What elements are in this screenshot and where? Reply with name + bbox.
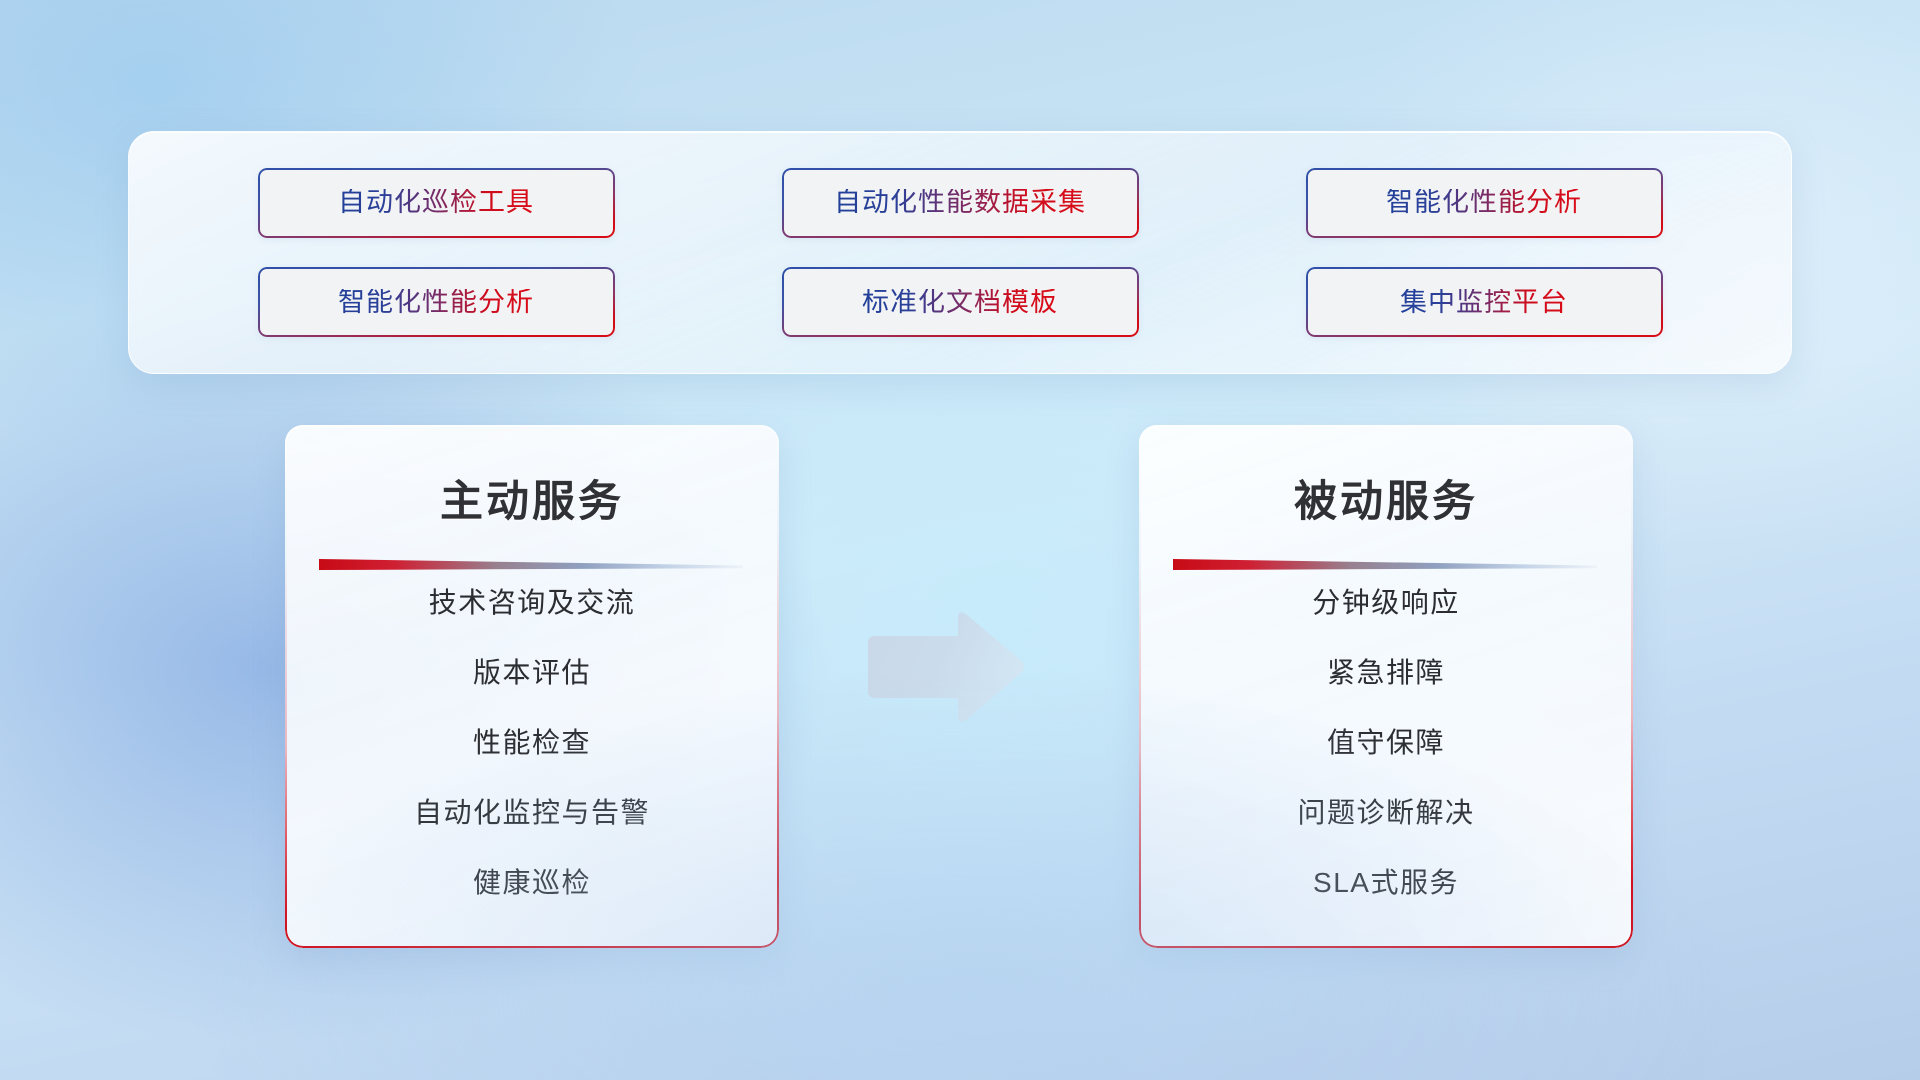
card-divider bbox=[319, 559, 743, 570]
capability-tag[interactable]: 自动化性能数据采集 bbox=[782, 168, 1139, 238]
service-list-item: 问题诊断解决 bbox=[1169, 791, 1603, 831]
service-list-item: 自动化监控与告警 bbox=[315, 791, 749, 831]
slide-canvas: 自动化巡检工具 自动化性能数据采集 智能化性能分析 智能化性能分析 标准化文档模… bbox=[0, 0, 1920, 1080]
capability-tag-label: 集中监控平台 bbox=[1400, 289, 1568, 316]
service-list-item: 健康巡检 bbox=[315, 861, 749, 901]
service-list-item: 分钟级响应 bbox=[1169, 581, 1603, 621]
service-list-item: 紧急排障 bbox=[1169, 651, 1603, 691]
service-list-item: 值守保障 bbox=[1169, 721, 1603, 761]
capability-tag[interactable]: 智能化性能分析 bbox=[1306, 168, 1663, 238]
capability-tag-label: 标准化文档模板 bbox=[862, 289, 1058, 316]
arrow-right-icon bbox=[862, 608, 1028, 728]
capability-tag[interactable]: 集中监控平台 bbox=[1306, 267, 1663, 337]
service-list-item: 性能检查 bbox=[315, 721, 749, 761]
capability-tag[interactable]: 标准化文档模板 bbox=[782, 267, 1139, 337]
service-list-item: 版本评估 bbox=[315, 651, 749, 691]
service-item-list: 分钟级响应 紧急排障 值守保障 问题诊断解决 SLA式服务 bbox=[1169, 570, 1603, 924]
service-card-title: 被动服务 bbox=[1169, 467, 1603, 529]
service-card-passive: 被动服务 分钟级响应 紧急排障 值守保障 bbox=[1139, 425, 1633, 948]
capability-tag-label: 自动化性能数据采集 bbox=[834, 189, 1086, 216]
capability-tag[interactable]: 自动化巡检工具 bbox=[258, 168, 615, 238]
service-card-title: 主动服务 bbox=[315, 467, 749, 529]
card-divider bbox=[1173, 559, 1597, 570]
service-list-item: SLA式服务 bbox=[1169, 861, 1603, 901]
service-list-item: 技术咨询及交流 bbox=[315, 581, 749, 621]
service-card-active: 主动服务 技术咨询及交流 版本评估 性能检查 bbox=[285, 425, 779, 948]
capability-tag[interactable]: 智能化性能分析 bbox=[258, 267, 615, 337]
capability-tag-label: 智能化性能分析 bbox=[1386, 189, 1582, 216]
capability-tag-label: 智能化性能分析 bbox=[338, 289, 534, 316]
capability-tag-label: 自动化巡检工具 bbox=[338, 189, 534, 216]
capability-tag-panel: 自动化巡检工具 自动化性能数据采集 智能化性能分析 智能化性能分析 标准化文档模… bbox=[128, 131, 1792, 374]
service-item-list: 技术咨询及交流 版本评估 性能检查 自动化监控与告警 健康巡检 bbox=[315, 570, 749, 924]
